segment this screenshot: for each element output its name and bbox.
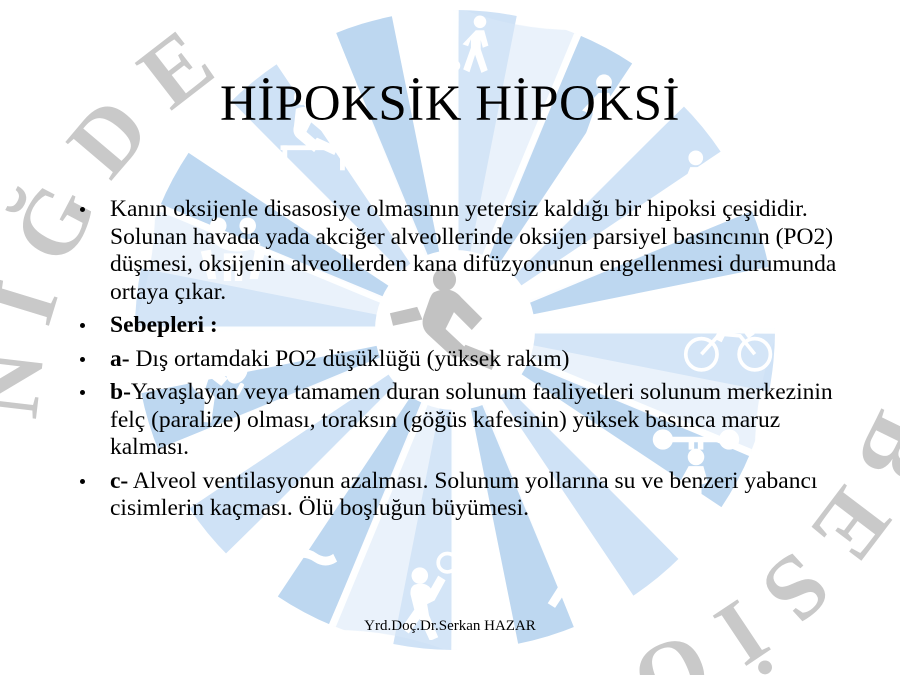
bullet-lead-4: c-	[110, 468, 128, 494]
list-item: c- Alveol ventilasyonun azalması. Solunu…	[62, 468, 852, 523]
list-item: a- Dış ortamdaki PO2 düşüklüğü (yüksek r…	[62, 346, 852, 374]
bullet-text-3: Yavaşlayan veya tamamen duran solunum fa…	[110, 379, 833, 460]
footer-placeholder: Yrd.Doç.Dr.Serkan HAZAR	[0, 617, 900, 635]
list-item: b-Yavaşlayan veya tamamen duran solunum …	[62, 379, 852, 462]
presentation-slide: NİĞDE BESİO HİPOKSİK HİPOKSİ Kanın oksij…	[0, 0, 900, 675]
bullet-lead-3: b-	[110, 379, 131, 405]
title-placeholder: HİPOKSİK HİPOKSİ	[0, 78, 900, 132]
body-placeholder: Kanın oksijenle disasosiye olmasının yet…	[62, 196, 852, 529]
list-item: Kanın oksijenle disasosiye olmasının yet…	[62, 196, 852, 306]
bullet-list: Kanın oksijenle disasosiye olmasının yet…	[62, 196, 852, 523]
author-footer: Yrd.Doç.Dr.Serkan HAZAR	[364, 618, 536, 634]
list-item: Sebepleri :	[62, 312, 852, 340]
page-title: HİPOKSİK HİPOKSİ	[220, 78, 680, 132]
bullet-lead-1: Sebepleri :	[110, 312, 218, 338]
slide-content-layer: HİPOKSİK HİPOKSİ Kanın oksijenle disasos…	[0, 0, 900, 675]
bullet-text-4: Alveol ventilasyonun azalması. Solunum y…	[110, 468, 817, 522]
bullet-lead-2: a-	[110, 346, 130, 372]
bullet-text-0: Kanın oksijenle disasosiye olmasının yet…	[110, 196, 836, 305]
bullet-text-2: Dış ortamdaki PO2 düşüklüğü (yüksek rakı…	[130, 346, 570, 372]
